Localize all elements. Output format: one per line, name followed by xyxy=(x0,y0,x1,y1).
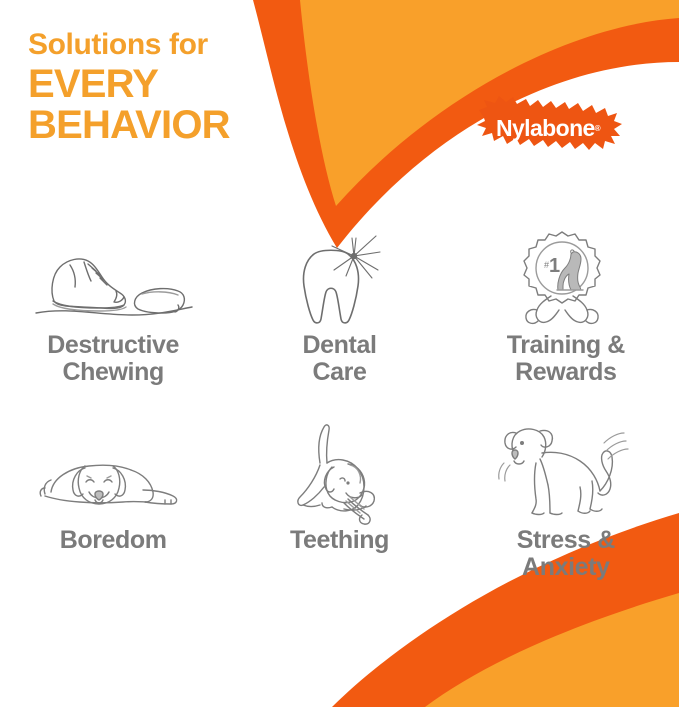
logo-name-text: Nylabone xyxy=(496,115,595,142)
grid-item-training-rewards: # 1 Training & Rewards xyxy=(453,232,679,427)
logo-wordmark: Nylabone® xyxy=(470,89,626,167)
sparkling-tooth-icon xyxy=(284,232,394,328)
chewed-shoe-icon xyxy=(28,232,198,328)
grid-item-boredom: Boredom xyxy=(0,427,226,622)
grid-item-label: Training & Rewards xyxy=(507,332,625,386)
grid-item-label: Dental Care xyxy=(302,332,376,386)
headline-line-2: EVERY xyxy=(28,64,308,104)
grid-item-label: Boredom xyxy=(60,527,167,554)
nylabone-logo: Nylabone® xyxy=(468,88,624,166)
grid-item-label: Teething xyxy=(290,527,389,554)
headline-line-1: Solutions for xyxy=(28,30,308,60)
anxious-dog-icon xyxy=(496,427,636,523)
nylabone-behavior-poster: Solutions for EVERY BEHAVIOR Nylabone® xyxy=(0,0,679,707)
award-ribbon-dog-icon: # 1 xyxy=(511,232,621,328)
grid-item-destructive-chewing: Destructive Chewing xyxy=(0,232,226,427)
registered-trademark-icon: ® xyxy=(595,124,600,133)
headline-line-3: BEHAVIOR xyxy=(28,105,308,145)
grid-item-dental-care: Dental Care xyxy=(226,232,452,427)
puppy-chewing-bone-icon xyxy=(274,427,404,523)
grid-item-stress-anxiety: Stress & Anxiety xyxy=(453,427,679,622)
grid-item-teething: Teething xyxy=(226,427,452,622)
grid-item-label: Stress & Anxiety xyxy=(517,527,615,581)
grid-item-label: Destructive Chewing xyxy=(47,332,179,386)
bored-lying-dog-icon xyxy=(23,427,203,523)
behavior-grid: Destructive Chewing xyxy=(0,232,679,622)
headline: Solutions for EVERY BEHAVIOR xyxy=(28,30,308,146)
svg-text:1: 1 xyxy=(549,255,560,277)
